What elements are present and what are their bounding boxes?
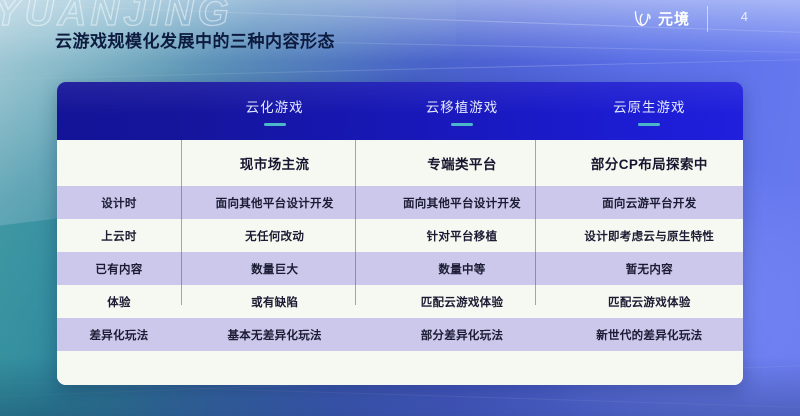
column-header-ported[interactable]: 云移植游戏 [368, 82, 555, 140]
column-header-label: 云移植游戏 [426, 96, 499, 116]
table-row[interactable]: 已有内容 数量巨大 数量中等 暂无内容 [57, 252, 743, 285]
table-row[interactable]: 体验 或有缺陷 匹配云游戏体验 匹配云游戏体验 [57, 285, 743, 318]
table-row[interactable]: 上云时 无任何改动 针对平台移植 设计即考虑云与原生特性 [57, 219, 743, 252]
column-subtitle: 专端类平台 [368, 153, 555, 173]
table-cell: 面向其他平台设计开发 [181, 195, 368, 211]
table-header-band: 云化游戏 云移植游戏 云原生游戏 [57, 82, 743, 140]
table-cell: 匹配云游戏体验 [556, 294, 743, 310]
brand-logo: 元境 [633, 8, 690, 29]
table-body: 现市场主流 专端类平台 部分CP布局探索中 设计时 面向其他平台设计开发 面向其… [57, 140, 743, 385]
table-cell: 匹配云游戏体验 [368, 294, 555, 310]
table-footer-space [57, 351, 743, 385]
column-header-cloudified[interactable]: 云化游戏 [181, 82, 368, 140]
table-rows: 设计时 面向其他平台设计开发 面向其他平台设计开发 面向云游平台开发 上云时 无… [57, 186, 743, 351]
column-subtitle: 部分CP布局探索中 [556, 153, 743, 173]
table-cell: 新世代的差异化玩法 [556, 327, 743, 343]
table-cell: 暂无内容 [556, 261, 743, 277]
table-cell: 面向云游平台开发 [556, 195, 743, 211]
row-label: 已有内容 [57, 261, 181, 277]
table-cell: 数量中等 [368, 261, 555, 277]
column-header-label: 云原生游戏 [613, 96, 686, 116]
comparison-table-card: 云化游戏 云移植游戏 云原生游戏 现市场主流 专端类平台 部分CP布局探索中 设… [57, 82, 743, 385]
row-label: 差异化玩法 [57, 327, 181, 343]
page-title: 云游戏规模化发展中的三种内容形态 [55, 27, 335, 52]
header-label-spacer [57, 82, 181, 140]
yuanjing-logo-icon [633, 9, 653, 28]
column-subtitle: 现市场主流 [181, 153, 368, 173]
table-row[interactable]: 设计时 面向其他平台设计开发 面向其他平台设计开发 面向云游平台开发 [57, 186, 743, 219]
table-cell: 无任何改动 [181, 228, 368, 244]
table-row[interactable]: 差异化玩法 基本无差异化玩法 部分差异化玩法 新世代的差异化玩法 [57, 318, 743, 351]
table-cell: 数量巨大 [181, 261, 368, 277]
table-subtitle-row: 现市场主流 专端类平台 部分CP布局探索中 [57, 140, 743, 186]
table-cell: 或有缺陷 [181, 294, 368, 310]
table-cell: 面向其他平台设计开发 [368, 195, 555, 211]
page-number: 4 [741, 9, 748, 24]
table-cell: 针对平台移植 [368, 228, 555, 244]
column-header-native[interactable]: 云原生游戏 [556, 82, 743, 140]
table-cell: 设计即考虑云与原生特性 [556, 228, 743, 244]
column-header-label: 云化游戏 [246, 96, 304, 116]
column-header-underline-icon [451, 123, 473, 126]
row-label: 上云时 [57, 228, 181, 244]
table-cell: 基本无差异化玩法 [181, 327, 368, 343]
row-label: 设计时 [57, 195, 181, 211]
brand-name: 元境 [658, 8, 690, 29]
header-divider [707, 6, 708, 32]
column-header-underline-icon [638, 123, 660, 126]
row-label: 体验 [57, 294, 181, 310]
table-cell: 部分差异化玩法 [368, 327, 555, 343]
column-header-underline-icon [264, 123, 286, 126]
